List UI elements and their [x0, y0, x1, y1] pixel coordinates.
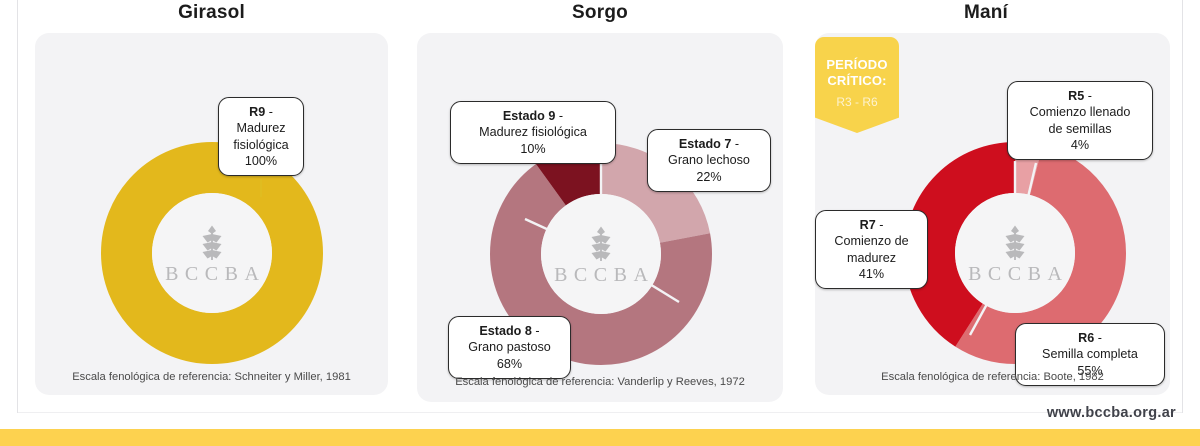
- tooltip-code: Estado 8: [479, 324, 532, 338]
- tooltip-value: 10%: [460, 141, 606, 157]
- tooltip-r9[interactable]: R9 - Madurez fisiológica 100%: [218, 97, 304, 176]
- card-girasol: BCCBA R9 - Madurez fisiológica 100% Esca…: [35, 33, 388, 395]
- tooltip-name-line2: madurez: [847, 251, 896, 265]
- tooltip-code: R5: [1068, 89, 1084, 103]
- charts-container: Girasol: [0, 0, 1200, 412]
- tooltip-value: 68%: [458, 356, 561, 372]
- tooltip-value: 41%: [825, 266, 918, 282]
- footnote-mani: Escala fenológica de referencia: Boote, …: [815, 371, 1170, 383]
- donut-hole: [541, 194, 661, 314]
- tooltip-name: Grano lechoso: [668, 153, 750, 167]
- badge-title-line1: PERÍODO: [815, 57, 899, 73]
- page-title-mani: Maní: [802, 2, 1170, 24]
- donut-hole: [152, 193, 272, 313]
- badge-title-line2: CRÍTICO:: [815, 73, 899, 89]
- tooltip-value: 100%: [228, 153, 294, 169]
- card-mani: BCCBA PERÍODO CRÍTICO: R3 - R6 R5 - Comi…: [815, 33, 1170, 395]
- tooltip-name-line2: de semillas: [1049, 122, 1112, 136]
- tooltip-estado-7[interactable]: Estado 7 - Grano lechoso 22%: [647, 129, 771, 192]
- footnote-girasol: Escala fenológica de referencia: Schneit…: [35, 371, 388, 383]
- page-title-sorgo: Sorgo: [417, 2, 783, 24]
- tooltip-name-line1: Comienzo llenado: [1030, 105, 1131, 119]
- donut-hole: [955, 193, 1075, 313]
- tooltip-r5[interactable]: R5 - Comienzo llenado de semillas 4%: [1007, 81, 1153, 160]
- tooltip-estado-8[interactable]: Estado 8 - Grano pastoso 68%: [448, 316, 571, 379]
- tooltip-code: R7: [860, 218, 876, 232]
- leader-line-r9: [260, 179, 262, 197]
- tooltip-name: Madurez fisiológica: [233, 121, 288, 151]
- site-url[interactable]: www.bccba.org.ar: [1047, 405, 1176, 421]
- badge-range: R3 - R6: [815, 95, 899, 109]
- footnote-sorgo: Escala fenológica de referencia: Vanderl…: [417, 376, 783, 388]
- tooltip-name: Grano pastoso: [468, 340, 551, 354]
- tooltip-code: R9: [249, 105, 265, 119]
- tooltip-r7[interactable]: R7 - Comienzo de madurez 41%: [815, 210, 928, 289]
- tooltip-code: R6: [1078, 331, 1094, 345]
- tooltip-value: 4%: [1017, 137, 1143, 153]
- footer-divider: [18, 412, 1182, 413]
- tooltip-estado-9[interactable]: Estado 9 - Madurez fisiológica 10%: [450, 101, 616, 164]
- bottom-accent-bar: [0, 429, 1200, 446]
- page-title-girasol: Girasol: [35, 2, 388, 24]
- card-sorgo: BCCBA Estado 9 - Madurez fisiológica 10%…: [417, 33, 783, 402]
- tooltip-value: 22%: [657, 169, 761, 185]
- tooltip-code: Estado 9: [503, 109, 556, 123]
- tooltip-name-line1: Comienzo de: [834, 234, 908, 248]
- tooltip-name: Madurez fisiológica: [479, 125, 587, 139]
- tooltip-code: Estado 7: [679, 137, 732, 151]
- status-badge-periodo-critico: PERÍODO CRÍTICO: R3 - R6: [815, 37, 899, 133]
- tooltip-name: Semilla completa: [1042, 347, 1138, 361]
